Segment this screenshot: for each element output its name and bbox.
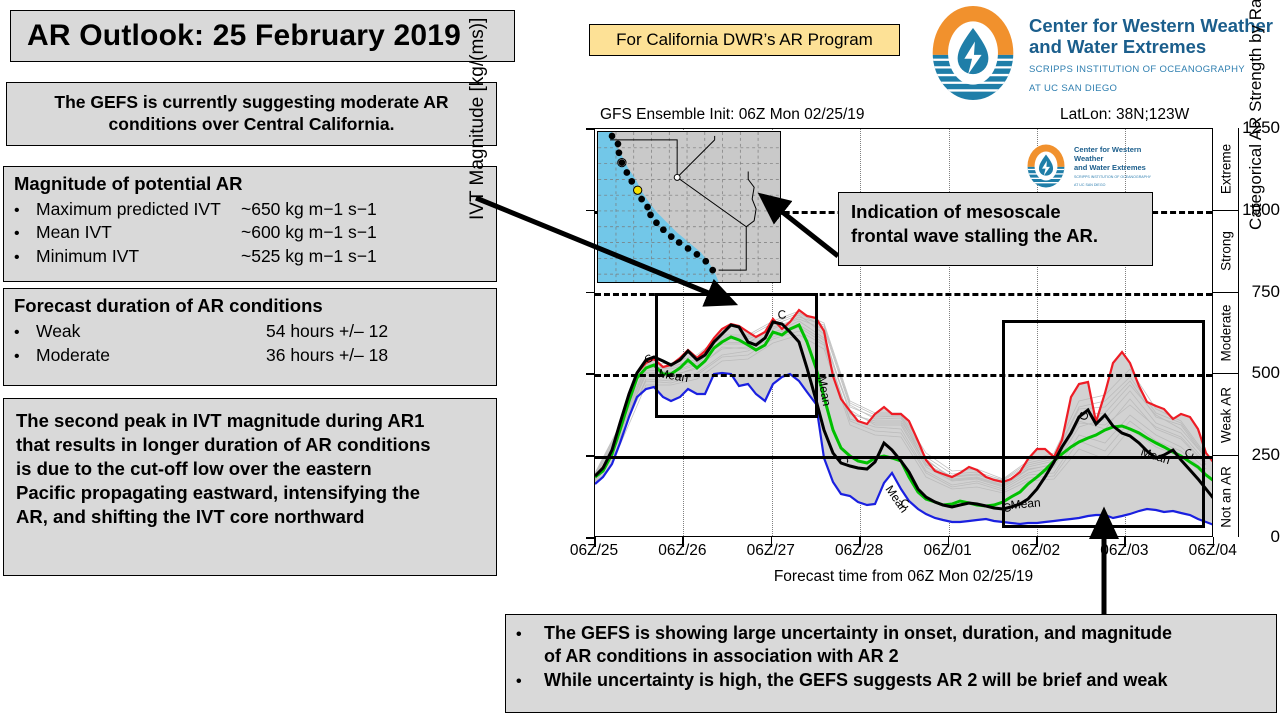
explanation-line: Pacific propagating eastward, intensifyi…	[16, 481, 484, 505]
chart-init-label: GFS Ensemble Init: 06Z Mon 02/25/19	[600, 106, 865, 124]
duration-row-value: 36 hours +/– 18	[266, 344, 488, 367]
dwr-program-banner: For California DWR’s AR Program	[589, 24, 900, 56]
bullet-icon: •	[14, 347, 36, 367]
bullet-icon: •	[14, 201, 36, 221]
page-title-text: AR Outlook: 25 February 2019	[27, 19, 461, 53]
cw3e-emblem-icon	[925, 5, 1021, 101]
magnitude-panel: Magnitude of potential AR • Maximum pred…	[3, 166, 497, 282]
cw3e-sub-line-1: SCRIPPS INSTITUTION OF OCEANOGRAPHY	[1029, 64, 1275, 77]
right-axis-label: Categorical AR Strength by Ralph/CW3E	[1246, 0, 1266, 230]
cat-band-moderate: Moderate	[1213, 292, 1239, 374]
magnitude-row: • Minimum IVT ~525 kg m−1 s−1	[14, 245, 488, 268]
magnitude-row-label: Maximum predicted IVT	[36, 198, 241, 220]
cw3e-sub-line-2: AT UC SAN DIEGO	[1074, 183, 1170, 188]
ar2-bullet-text: The GEFS is showing large uncertainty in…	[544, 622, 1264, 645]
ar1-highlight-rect	[655, 293, 818, 418]
bullet-icon: •	[14, 323, 36, 343]
cw3e-name-line-2: and Water Extremes	[1074, 163, 1170, 172]
cw3e-logo-inline-text: Center for Western Weather and Water Ext…	[1074, 145, 1170, 189]
ar2-bullet-text: While uncertainty is high, the GEFS sugg…	[544, 669, 1264, 692]
magnitude-row-value: ~525 kg m−1 s−1	[241, 245, 488, 267]
magnitude-row: • Mean IVT ~600 kg m−1 s−1	[14, 221, 488, 244]
cw3e-name-line-1: Center for Western Weather	[1074, 145, 1170, 163]
y-axis-label: IVT Magnitude [kg/(ms)]	[467, 18, 489, 220]
ar2-uncertainty-panel: • The GEFS is showing large uncertainty …	[505, 614, 1277, 713]
cat-band-strong: Strong	[1213, 210, 1239, 292]
ar2-bullet-cont: of AR conditions in association with AR …	[516, 645, 1264, 668]
california-inset-map	[597, 131, 781, 283]
mesoscale-callout: Indication of mesoscale frontal wave sta…	[838, 192, 1153, 266]
explanation-panel: The second peak in IVT magnitude during …	[3, 398, 497, 576]
x-tick-label: 06Z/04	[1173, 542, 1253, 560]
cw3e-sub-line-1: SCRIPPS INSTITUTION OF OCEANOGRAPHY	[1074, 175, 1170, 180]
mesoscale-callout-line: Indication of mesoscale	[851, 200, 1140, 224]
x-tick-label: 06Z/02	[996, 542, 1076, 560]
chart-latlon-label: LatLon: 38N;123W	[1060, 106, 1189, 124]
mesoscale-callout-line: frontal wave stalling the AR.	[851, 224, 1140, 248]
cw3e-name-line-2: and Water Extremes	[1029, 36, 1275, 57]
cat-band-label: Strong	[1219, 231, 1234, 271]
bullet-icon: •	[14, 224, 36, 244]
ar2-bullet: • The GEFS is showing large uncertainty …	[516, 622, 1264, 645]
explanation-line: The second peak in IVT magnitude during …	[16, 409, 484, 433]
inset-map-graphic	[598, 132, 780, 282]
bullet-icon: •	[516, 672, 544, 692]
bullet-icon: •	[516, 625, 544, 645]
explanation-line: AR, and shifting the IVT core northward	[16, 505, 484, 529]
cat-band-label: Not an AR	[1219, 466, 1234, 528]
bullet-icon: •	[14, 248, 36, 268]
magnitude-row-label: Minimum IVT	[36, 245, 241, 267]
magnitude-row: • Maximum predicted IVT ~650 kg m−1 s−1	[14, 198, 488, 221]
explanation-line: is due to the cut-off low over the easte…	[16, 457, 484, 481]
cat-band-label: Weak AR	[1219, 387, 1234, 443]
cw3e-logo-inline: Center for Western Weather and Water Ext…	[1024, 141, 1170, 191]
duration-row-label: Weak	[36, 320, 266, 343]
cat-band-label: Extreme	[1219, 144, 1234, 194]
page-title: AR Outlook: 25 February 2019	[10, 10, 515, 62]
summary-callout: The GEFS is currently suggesting moderat…	[6, 82, 497, 146]
x-tick-label: 06Z/27	[731, 542, 811, 560]
duration-row-value: 54 hours +/– 12	[266, 320, 488, 343]
x-tick-label: 06Z/01	[908, 542, 988, 560]
cat-band-notanar: Not an AR	[1213, 455, 1239, 537]
duration-header: Forecast duration of AR conditions	[14, 294, 488, 318]
x-axis-label: Forecast time from 06Z Mon 02/25/19	[594, 568, 1213, 586]
categorical-strength-axis: Extreme Strong Moderate Weak AR Not an A…	[1213, 128, 1239, 537]
duration-panel: Forecast duration of AR conditions • Wea…	[3, 288, 497, 386]
duration-row: • Moderate 36 hours +/– 18	[14, 344, 488, 367]
x-tick-label: 06Z/26	[642, 542, 722, 560]
dwr-program-text: For California DWR’s AR Program	[616, 30, 873, 50]
magnitude-header: Magnitude of potential AR	[14, 172, 488, 196]
cat-band-extreme: Extreme	[1213, 128, 1239, 210]
cat-band-label: Moderate	[1219, 304, 1234, 361]
cw3e-sub-line-2: AT UC SAN DIEGO	[1029, 83, 1275, 96]
cw3e-logo-text: Center for Western Weather and Water Ext…	[1029, 15, 1275, 96]
explanation-line: that results in longer duration of AR co…	[16, 433, 484, 457]
svg-text:C: C	[899, 496, 910, 511]
ar2-bullet: • While uncertainty is high, the GEFS su…	[516, 669, 1264, 692]
duration-row-label: Moderate	[36, 344, 266, 367]
summary-line-2: conditions over Central California.	[109, 114, 395, 136]
x-tick-label: 06Z/28	[819, 542, 899, 560]
cw3e-logo: Center for Western Weather and Water Ext…	[925, 3, 1275, 103]
magnitude-row-value: ~650 kg m−1 s−1	[241, 198, 488, 220]
summary-line-1: The GEFS is currently suggesting moderat…	[54, 92, 448, 114]
selected-point-marker	[634, 186, 642, 194]
cw3e-emblem-icon	[1024, 144, 1068, 188]
cw3e-name-line-1: Center for Western Weather	[1029, 15, 1275, 36]
magnitude-row-value: ~600 kg m−1 s−1	[241, 221, 488, 243]
duration-row: • Weak 54 hours +/– 12	[14, 320, 488, 343]
ar2-bullet-text-cont: of AR conditions in association with AR …	[544, 645, 1264, 668]
cat-band-weak: Weak AR	[1213, 373, 1239, 455]
x-tick-label: 06Z/25	[554, 542, 634, 560]
x-tick-label: 06Z/03	[1084, 542, 1164, 560]
ar2-highlight-rect	[1002, 320, 1205, 528]
magnitude-row-label: Mean IVT	[36, 221, 241, 243]
